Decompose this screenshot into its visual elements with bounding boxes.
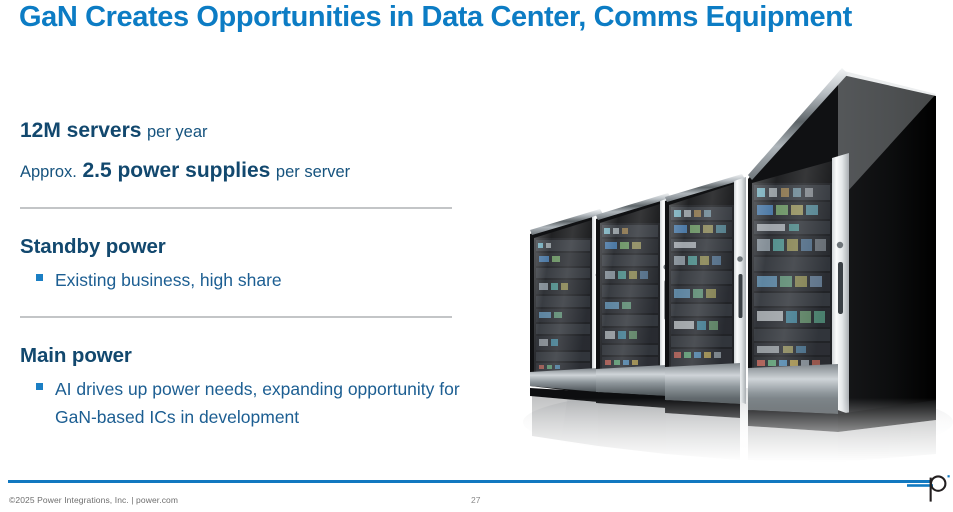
bullet-text-main-0: AI drives up power needs, expanding oppo…: [55, 375, 500, 431]
section-heading-standby: Standby power: [20, 234, 520, 260]
logo-mark-icon: [907, 471, 953, 507]
stat-line-supplies: Approx. 2.5 power supplies per server: [20, 158, 520, 185]
list-item: AI drives up power needs, expanding oppo…: [36, 375, 520, 431]
slide-canvas: GaN Creates Opportunities in Data Center…: [0, 0, 953, 512]
stat-servers-value: 12M servers: [20, 119, 141, 142]
logo-bar: [907, 484, 933, 487]
divider-bottom: [20, 316, 452, 318]
list-item: Existing business, high share: [36, 266, 520, 294]
page-title: GaN Creates Opportunities in Data Center…: [19, 0, 919, 35]
server-rack-3: [665, 174, 746, 418]
bullet-text-standby-0: Existing business, high share: [55, 266, 282, 294]
footer-copyright: ©2025 Power Integrations, Inc. | power.c…: [9, 495, 178, 505]
server-rack-2: [596, 193, 672, 408]
bullet-square-icon: [36, 274, 43, 281]
section-heading-main: Main power: [20, 343, 520, 369]
divider-top: [20, 207, 452, 209]
section-main-power: Main power AI drives up power needs, exp…: [20, 343, 520, 431]
bullet-square-icon: [36, 383, 43, 390]
server-racks-illustration: [508, 62, 953, 462]
server-rack-1: [530, 209, 604, 402]
stat-supplies-prefix: Approx.: [20, 163, 77, 181]
stat-supplies-unit: per server: [276, 163, 350, 181]
stat-supplies-value: 2.5 power supplies: [82, 159, 270, 182]
logo-tm-mark: [948, 475, 950, 477]
server-rack-4: [748, 68, 936, 432]
section-standby-power: Standby power Existing business, high sh…: [20, 234, 520, 294]
power-integrations-logo: [907, 471, 953, 507]
footer-rule: [8, 480, 930, 483]
stat-line-servers: 12M servers per year: [20, 118, 520, 145]
logo-bowl: [931, 476, 945, 490]
server-racks-image: [508, 62, 953, 462]
page-number: 27: [471, 495, 480, 505]
content-column: 12M servers per year Approx. 2.5 power s…: [20, 118, 520, 431]
stat-servers-unit: per year: [147, 123, 208, 141]
